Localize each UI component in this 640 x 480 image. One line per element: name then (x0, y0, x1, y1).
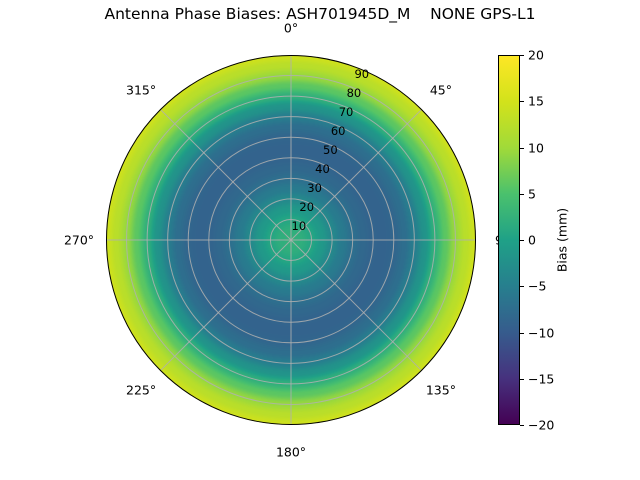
radial-tick-label: 20 (299, 200, 314, 214)
page-title: Antenna Phase Biases: ASH701945D_M NONE … (0, 5, 640, 23)
colorbar-tick-mark (520, 425, 524, 426)
colorbar-tick-mark (520, 101, 524, 102)
theta-tick-label: 270° (64, 233, 94, 248)
colorbar-tick-label: 20 (528, 48, 544, 63)
radial-tick-label: 50 (323, 143, 338, 157)
colorbar-gradient (498, 55, 520, 425)
radial-tick-label: 80 (347, 86, 362, 100)
colorbar-tick-label: −10 (528, 325, 554, 340)
polar-axes[interactable]: 102030405060708090 0°45°90135°180°225°27… (106, 55, 476, 425)
colorbar-tick-mark (520, 333, 524, 334)
colorbar-tick-mark (520, 55, 524, 56)
colorbar-tick-mark (520, 379, 524, 380)
colorbar-tick-label: 10 (528, 140, 544, 155)
theta-tick-label: 180° (276, 445, 306, 460)
colorbar-tick-mark (520, 194, 524, 195)
colorbar-tick-label: 0 (528, 233, 536, 248)
colorbar-tick-label: −15 (528, 371, 554, 386)
figure-canvas: Antenna Phase Biases: ASH701945D_M NONE … (0, 0, 640, 480)
radial-tick-label: 70 (339, 105, 354, 119)
radial-tick-label: 40 (315, 162, 330, 176)
colorbar[interactable]: 20151050−5−10−15−20 (498, 55, 520, 425)
polar-heatmap-field (106, 55, 476, 425)
theta-tick-label: 135° (426, 382, 456, 397)
polar-data-disc (106, 55, 476, 425)
radial-tick-label: 10 (292, 219, 307, 233)
theta-tick-label: 225° (126, 382, 156, 397)
colorbar-tick-label: −5 (528, 279, 546, 294)
theta-tick-label: 315° (126, 83, 156, 98)
colorbar-tick-label: 5 (528, 186, 536, 201)
colorbar-tick-label: −20 (528, 418, 554, 433)
theta-tick-label: 45° (430, 83, 452, 98)
colorbar-tick-mark (520, 240, 524, 241)
colorbar-tick-mark (520, 148, 524, 149)
colorbar-tick-label: 15 (528, 94, 544, 109)
colorbar-axis-label: Bias (mm) (555, 208, 570, 272)
colorbar-tick-mark (520, 286, 524, 287)
theta-tick-label: 0° (284, 21, 298, 36)
radial-tick-label: 60 (331, 124, 346, 138)
radial-tick-label: 90 (354, 67, 369, 81)
radial-tick-label: 30 (307, 181, 322, 195)
